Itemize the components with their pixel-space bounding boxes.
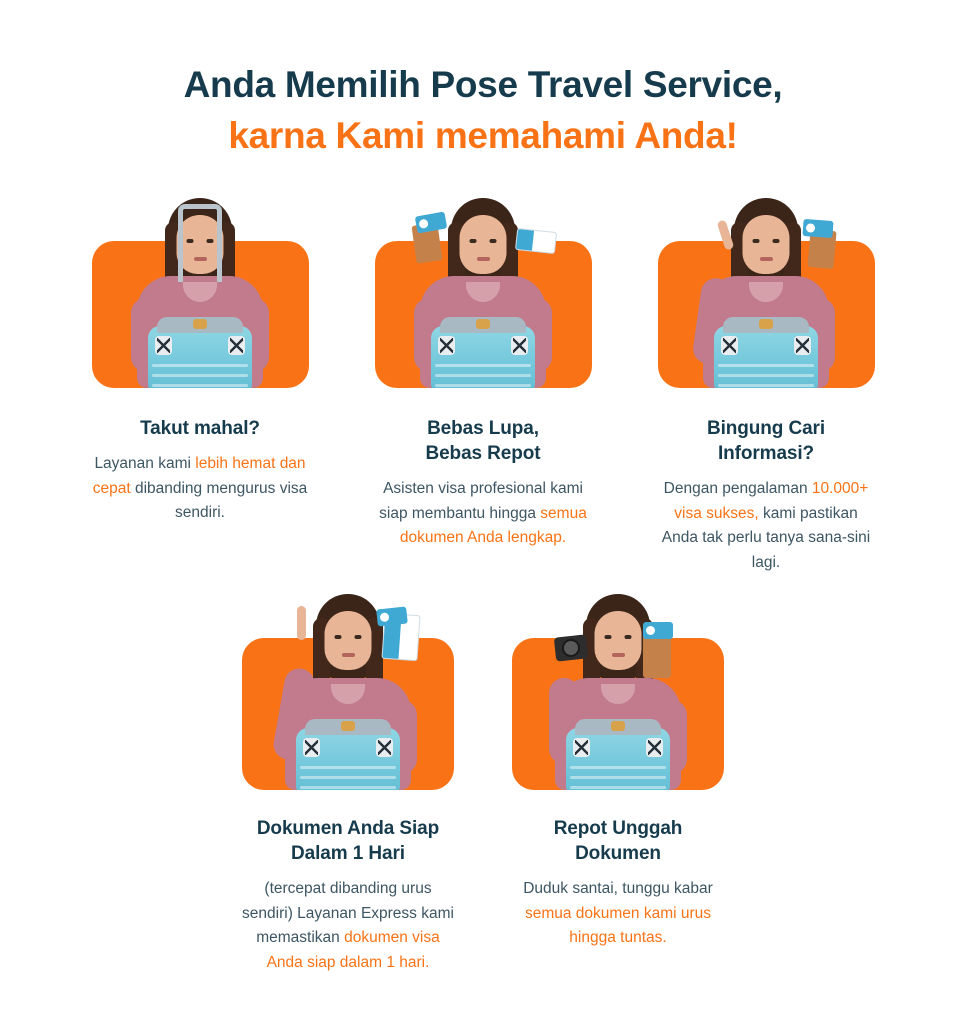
feature-image-repot-unggah-dokumen [512, 592, 724, 790]
visa-card-icon [515, 228, 557, 254]
suitcase-corner-left [573, 738, 590, 757]
suitcase-corner-right [794, 336, 811, 355]
suitcase [148, 326, 252, 388]
feature-image-bingung-cari-informasi [658, 196, 875, 388]
suitcase-stripe [152, 364, 248, 367]
suitcase-stripe [152, 384, 248, 387]
feature-caption: Bingung Cari Informasi? Dengan pengalama… [658, 416, 875, 575]
feature-title-line-2: Dokumen [512, 841, 724, 866]
eye-left [470, 239, 477, 243]
feature-title: Dokumen Anda Siap Dalam 1 Hari [242, 816, 454, 866]
eye-right [355, 635, 362, 639]
feature-card-repot-unggah-dokumen: Repot Unggah Dokumen Duduk santai, tungg… [512, 592, 724, 975]
boarding-pass-icon [415, 212, 447, 234]
feature-title: Repot Unggah Dokumen [512, 816, 724, 866]
body-part: dibanding mengurus visa sendiri. [131, 480, 308, 521]
suitcase-handle-icon [178, 204, 222, 282]
feature-title: Takut mahal? [92, 416, 309, 441]
eye-right [773, 239, 780, 243]
suitcase-corner-right [376, 738, 393, 757]
suitcase-stripe [718, 374, 814, 377]
feature-title-line-2: Dalam 1 Hari [242, 841, 454, 866]
subject-photo [375, 196, 592, 388]
suitcase [566, 728, 670, 790]
feature-title-line-1: Repot Unggah [512, 816, 724, 841]
feature-body: Asisten visa profesional kami siap memba… [375, 477, 592, 550]
features-row-bottom: Dokumen Anda Siap Dalam 1 Hari (tercepat… [0, 592, 966, 975]
suitcase-corner-left [721, 336, 738, 355]
feature-caption: Repot Unggah Dokumen Duduk santai, tungg… [512, 816, 724, 951]
mouth [612, 653, 625, 657]
headline-line-1: Anda Memilih Pose Travel Service, [0, 62, 966, 108]
feature-body: Dengan pengalaman 10.000+ visa sukses, k… [658, 477, 875, 575]
feature-body: Duduk santai, tunggu kabar semua dokumen… [512, 877, 724, 950]
features-row-top: Takut mahal? Layanan kami lebih hemat da… [0, 196, 966, 575]
feature-card-bebas-lupa: Bebas Lupa, Bebas Repot Asisten visa pro… [375, 196, 592, 575]
subject-photo [512, 592, 724, 790]
subject-photo [92, 196, 309, 388]
mouth [477, 257, 490, 261]
suitcase-corner-left [303, 738, 320, 757]
face [460, 215, 507, 274]
boarding-pass-icon [802, 219, 833, 238]
suitcase [714, 326, 818, 388]
face [595, 611, 642, 670]
mouth [760, 257, 773, 261]
body-part-highlight: semua dokumen kami urus hingga tuntas. [525, 905, 711, 946]
feature-title-line-2: Informasi? [658, 441, 875, 466]
suitcase-stripe [570, 766, 666, 769]
suitcase-stripe [435, 374, 531, 377]
suitcase-stripe [570, 786, 666, 789]
suitcase-lock-icon [759, 319, 773, 329]
eye-right [625, 635, 632, 639]
feature-image-bebas-lupa [375, 196, 592, 388]
body-part: Dengan pengalaman [664, 480, 812, 497]
suitcase-stripe [152, 374, 248, 377]
promo-page: Anda Memilih Pose Travel Service, karna … [0, 0, 966, 1024]
suitcase-lock-icon [476, 319, 490, 329]
suitcase-corner-left [438, 336, 455, 355]
feature-title-line-1: Bingung Cari [658, 416, 875, 441]
suitcase-stripe [435, 364, 531, 367]
feature-card-takut-mahal: Takut mahal? Layanan kami lebih hemat da… [92, 196, 309, 575]
feature-title: Bingung Cari Informasi? [658, 416, 875, 466]
feature-caption: Takut mahal? Layanan kami lebih hemat da… [92, 416, 309, 526]
face [743, 215, 790, 274]
suitcase-lock-icon [193, 319, 207, 329]
feature-title-line-2: Bebas Repot [375, 441, 592, 466]
pointing-finger-icon [297, 606, 306, 640]
feature-card-bingung-cari-informasi: Bingung Cari Informasi? Dengan pengalama… [658, 196, 875, 575]
feature-card-dokumen-siap-1-hari: Dokumen Anda Siap Dalam 1 Hari (tercepat… [242, 592, 454, 975]
mouth [342, 653, 355, 657]
suitcase [431, 326, 535, 388]
suitcase-lock-icon [611, 721, 625, 731]
eye-left [753, 239, 760, 243]
suitcase-stripe [718, 364, 814, 367]
suitcase-corner-right [228, 336, 245, 355]
camera-icon [554, 634, 588, 661]
face [325, 611, 372, 670]
suitcase-corner-right [646, 738, 663, 757]
body-part: Duduk santai, tunggu kabar [523, 880, 713, 897]
body-part: Layanan kami [94, 455, 195, 472]
subject-photo [242, 592, 454, 790]
feature-title-line-1: Dokumen Anda Siap [242, 816, 454, 841]
suitcase-corner-left [155, 336, 172, 355]
page-title: Anda Memilih Pose Travel Service, karna … [0, 62, 966, 159]
feature-body: (tercepat dibanding urus sendiri) Layana… [242, 877, 454, 975]
subject-photo [658, 196, 875, 388]
suitcase-stripe [300, 766, 396, 769]
feature-caption: Bebas Lupa, Bebas Repot Asisten visa pro… [375, 416, 592, 551]
feature-caption: Dokumen Anda Siap Dalam 1 Hari (tercepat… [242, 816, 454, 975]
feature-image-takut-mahal [92, 196, 309, 388]
eye-left [605, 635, 612, 639]
boarding-pass-icon [643, 622, 673, 639]
eye-left [335, 635, 342, 639]
suitcase-stripe [300, 786, 396, 789]
boarding-pass-icon [376, 606, 408, 626]
feature-body: Layanan kami lebih hemat dan cepat diban… [92, 452, 309, 525]
suitcase [296, 728, 400, 790]
suitcase-corner-right [511, 336, 528, 355]
feature-image-dokumen-siap-1-hari [242, 592, 454, 790]
suitcase-lock-icon [341, 721, 355, 731]
headline-line-2: karna Kami memahami Anda! [0, 113, 966, 159]
suitcase-stripe [435, 384, 531, 387]
suitcase-stripe [300, 776, 396, 779]
eye-right [490, 239, 497, 243]
suitcase-stripe [570, 776, 666, 779]
suitcase-stripe [718, 384, 814, 387]
feature-title-line-1: Bebas Lupa, [375, 416, 592, 441]
feature-title: Bebas Lupa, Bebas Repot [375, 416, 592, 466]
